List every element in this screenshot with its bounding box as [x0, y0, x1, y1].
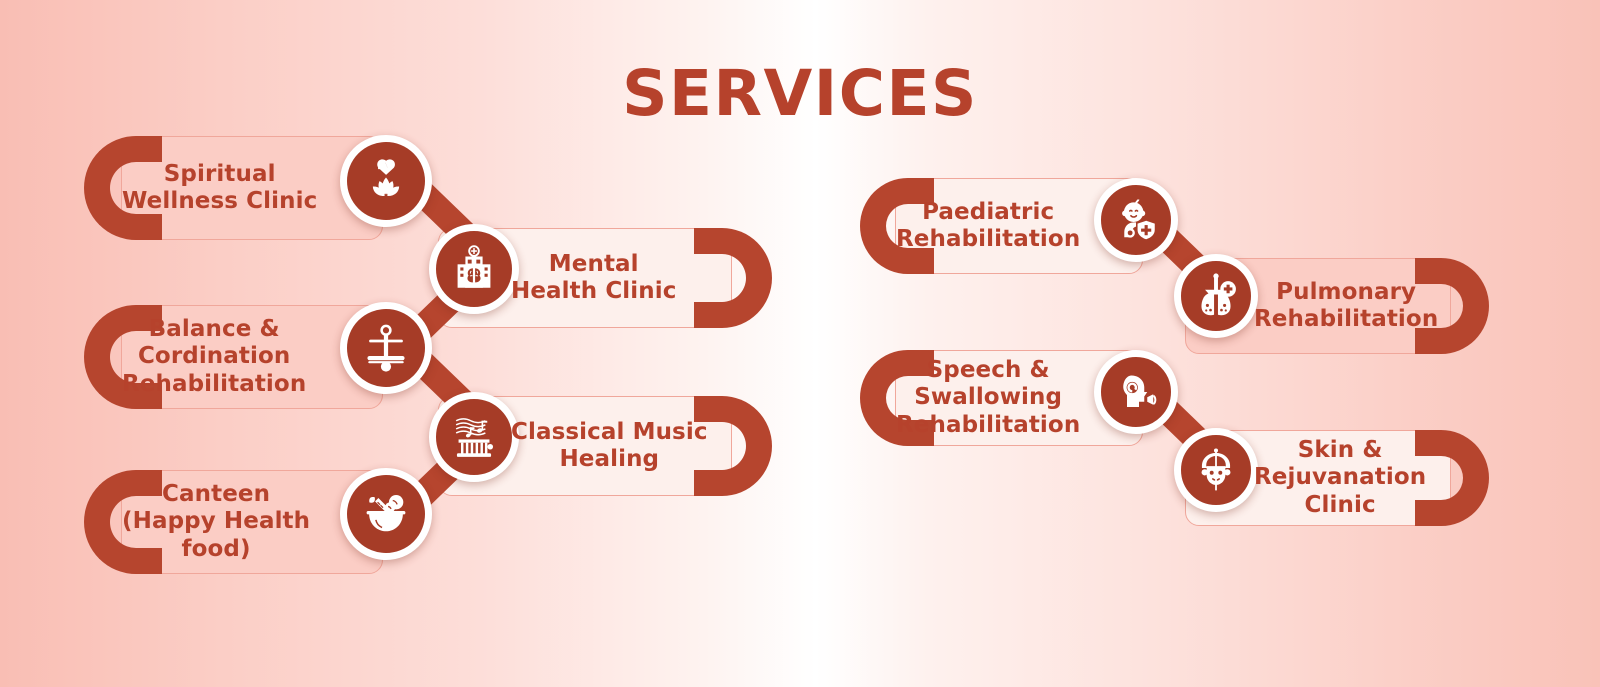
service-label: Speech & Swallowing Rehabilitation: [896, 357, 1080, 438]
service-label: Skin & Rejuvanation Clinic: [1254, 437, 1426, 518]
balance-board-person-icon[interactable]: [340, 302, 432, 394]
bracket-cap-right: [694, 228, 772, 328]
salad-bowl-icon[interactable]: [340, 468, 432, 560]
lotus-heartbeat-icon[interactable]: [340, 135, 432, 227]
hospital-brain-icon[interactable]: [429, 224, 519, 314]
baby-medical-cross-icon[interactable]: [1094, 178, 1178, 262]
service-label: Spiritual Wellness Clinic: [122, 161, 317, 215]
service-label: Balance & Cordination Rehabilitation: [122, 316, 306, 397]
harp-music-notes-icon[interactable]: [429, 392, 519, 482]
service-label: Canteen (Happy Health food): [122, 481, 310, 562]
service-label: Mental Health Clinic: [511, 251, 676, 305]
service-label: Classical Music Healing: [511, 419, 708, 473]
lungs-cross-icon[interactable]: [1174, 254, 1258, 338]
service-label: Paediatric Rehabilitation: [896, 199, 1080, 253]
service-label: Pulmonary Rehabilitation: [1254, 279, 1438, 333]
face-skin-icon[interactable]: [1174, 428, 1258, 512]
page-title: SERVICES: [0, 62, 1600, 125]
services-infographic: SERVICES Spiritual Wellness Clinic: [0, 0, 1600, 687]
head-speech-icon[interactable]: [1094, 350, 1178, 434]
